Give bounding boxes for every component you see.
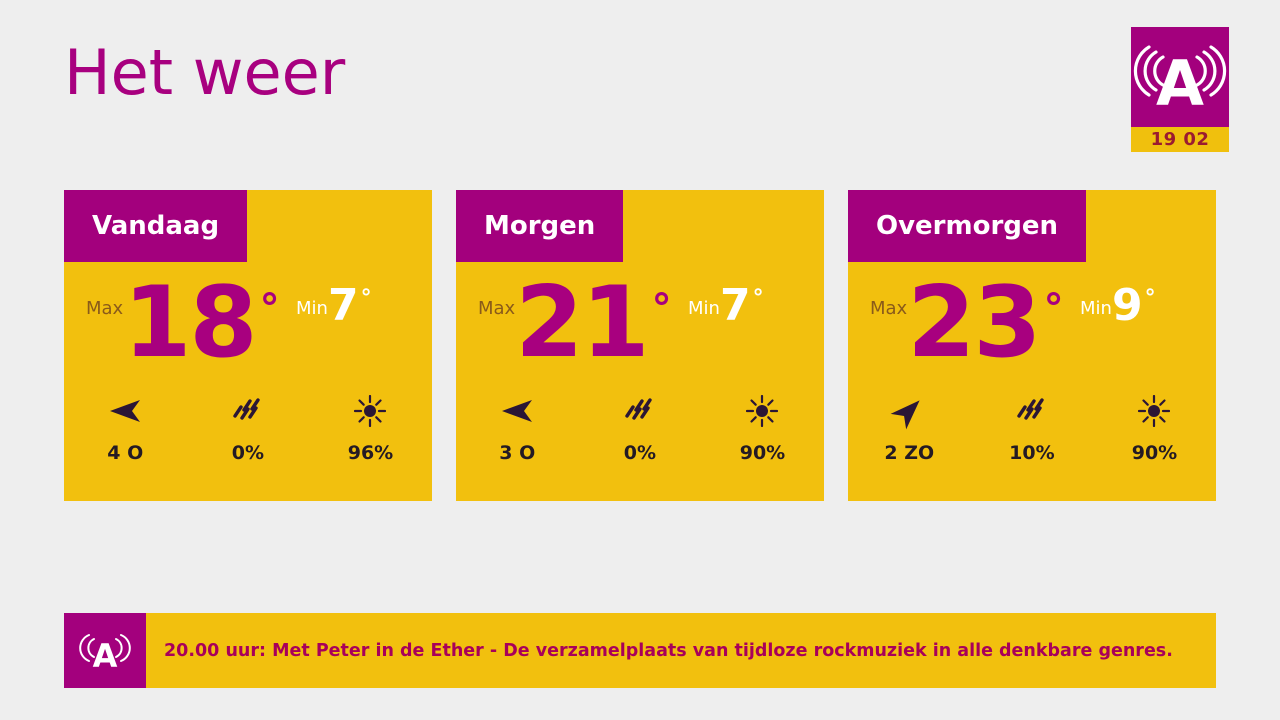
- min-temperature: Min 9 °: [1080, 284, 1156, 328]
- banner-body: 20.00 uur: Met Peter in de Ether - De ve…: [146, 613, 1216, 688]
- station-logo-mark: A: [1131, 27, 1229, 127]
- max-temperature: Max 21 °: [478, 278, 672, 368]
- card-temperatures: Max 21 ° Min 7 °: [456, 262, 824, 387]
- metric-wind: 4 O: [64, 390, 187, 464]
- page-title: Het weer: [64, 42, 345, 104]
- sun-icon: [746, 390, 778, 432]
- metric-rain: 10%: [971, 390, 1094, 464]
- wind-direction-arrow-icon: [500, 390, 534, 432]
- rain-icon: [231, 390, 265, 432]
- min-label: Min: [1080, 298, 1112, 319]
- card-header-morgen: Morgen: [456, 190, 623, 262]
- banner-station-logo: A: [64, 613, 146, 688]
- metric-rain: 0%: [187, 390, 310, 464]
- metric-sun: 96%: [309, 390, 432, 464]
- min-label: Min: [688, 298, 720, 319]
- max-degree-symbol: °: [652, 286, 672, 332]
- card-day-label: Overmorgen: [876, 211, 1058, 241]
- station-clock: 19 02: [1131, 127, 1229, 152]
- sun-value: 90%: [740, 442, 785, 464]
- wind-value: 4 O: [107, 442, 143, 464]
- rain-value: 0%: [624, 442, 656, 464]
- metric-rain: 0%: [579, 390, 702, 464]
- rain-value: 0%: [232, 442, 264, 464]
- metric-wind: 3 O: [456, 390, 579, 464]
- sun-value: 90%: [1132, 442, 1177, 464]
- wind-value: 2 ZO: [884, 442, 934, 464]
- max-degree-symbol: °: [1044, 286, 1064, 332]
- forecast-card-overmorgen[interactable]: Overmorgen Max 23 ° Min 9 ° 2 ZO: [848, 190, 1216, 501]
- radio-waves-icon: A: [78, 627, 132, 675]
- metric-sun: 90%: [701, 390, 824, 464]
- max-temperature: Max 23 °: [870, 278, 1064, 368]
- card-temperatures: Max 18 ° Min 7 °: [64, 262, 432, 387]
- banner-text: 20.00 uur: Met Peter in de Ether - De ve…: [164, 641, 1173, 661]
- card-header-vandaag: Vandaag: [64, 190, 247, 262]
- sun-value: 96%: [348, 442, 393, 464]
- max-label: Max: [870, 298, 907, 319]
- metric-wind: 2 ZO: [848, 390, 971, 464]
- max-label: Max: [478, 298, 515, 319]
- min-temperature: Min 7 °: [688, 284, 764, 328]
- wind-value: 3 O: [499, 442, 535, 464]
- sun-icon: [1138, 390, 1170, 432]
- rain-icon: [623, 390, 657, 432]
- card-day-label: Morgen: [484, 211, 595, 241]
- card-temperatures: Max 23 ° Min 9 °: [848, 262, 1216, 387]
- svg-text:A: A: [93, 637, 118, 675]
- min-temperature: Min 7 °: [296, 284, 372, 328]
- rain-icon: [1015, 390, 1049, 432]
- program-banner[interactable]: A 20.00 uur: Met Peter in de Ether - De …: [64, 613, 1216, 688]
- card-metrics: 4 O 0%: [64, 390, 432, 464]
- card-metrics: 2 ZO 10%: [848, 390, 1216, 464]
- min-value: 7: [720, 284, 751, 328]
- max-label: Max: [86, 298, 123, 319]
- wind-direction-arrow-icon: [108, 390, 142, 432]
- min-degree-symbol: °: [1145, 286, 1156, 311]
- sun-icon: [354, 390, 386, 432]
- metric-sun: 90%: [1093, 390, 1216, 464]
- card-day-label: Vandaag: [92, 211, 219, 241]
- card-metrics: 3 O 0%: [456, 390, 824, 464]
- min-label: Min: [296, 298, 328, 319]
- forecast-card-morgen[interactable]: Morgen Max 21 ° Min 7 ° 3 O: [456, 190, 824, 501]
- max-value: 21: [515, 278, 647, 368]
- min-degree-symbol: °: [753, 286, 764, 311]
- station-logo: A 19 02: [1131, 27, 1229, 152]
- min-degree-symbol: °: [361, 286, 372, 311]
- max-temperature: Max 18 °: [86, 278, 280, 368]
- radio-waves-icon: A: [1131, 27, 1229, 127]
- max-value: 18: [123, 278, 255, 368]
- max-degree-symbol: °: [260, 286, 280, 332]
- wind-direction-arrow-icon: [892, 390, 926, 432]
- min-value: 7: [328, 284, 359, 328]
- rain-value: 10%: [1009, 442, 1054, 464]
- card-header-overmorgen: Overmorgen: [848, 190, 1086, 262]
- forecast-cards: Vandaag Max 18 ° Min 7 ° 4 O: [64, 190, 1216, 501]
- max-value: 23: [907, 278, 1039, 368]
- min-value: 9: [1112, 284, 1143, 328]
- forecast-card-vandaag[interactable]: Vandaag Max 18 ° Min 7 ° 4 O: [64, 190, 432, 501]
